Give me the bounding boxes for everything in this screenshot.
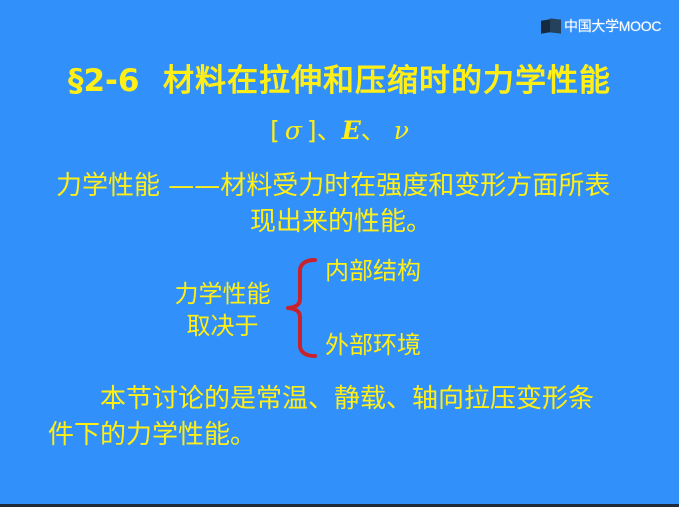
scope-line-2: 件下的力学性能。	[48, 417, 638, 453]
symbol-separator-1: 、	[317, 116, 342, 145]
dependency-left-label: 力学性能 取决于	[160, 278, 285, 342]
book-pages-icon	[541, 19, 561, 34]
symbol-separator-2: 、	[361, 116, 386, 145]
definition-line-1: 力学性能 ——材料受力时在强度和变形方面所表	[56, 168, 626, 204]
close-bracket: ]	[307, 116, 317, 145]
dependency-item-internal-structure: 内部结构	[325, 255, 421, 287]
dependency-left-label-line-2: 取决于	[160, 310, 285, 342]
poisson-ratio-symbol: ν	[394, 116, 409, 145]
elastic-modulus-symbol: E	[342, 116, 361, 145]
scope-paragraph: 本节讨论的是常温、静载、轴向拉压变形条 件下的力学性能。	[48, 381, 638, 453]
definition-paragraph: 力学性能 ——材料受力时在强度和变形方面所表 现出来的性能。	[56, 168, 626, 240]
mooc-logo-text: 中国大学MOOC	[564, 19, 661, 34]
sigma-symbol: σ	[285, 116, 302, 145]
scope-line-1-wrapper: 本节讨论的是常温、静载、轴向拉压变形条	[48, 381, 638, 417]
dependency-item-external-environment: 外部环境	[325, 329, 421, 361]
scope-line-1: 本节讨论的是常温、静载、轴向拉压变形条	[100, 384, 594, 414]
slide-title-section-number: §2-6	[68, 63, 140, 99]
definition-line-2: 现出来的性能。	[56, 204, 626, 240]
dependency-left-label-line-1: 力学性能	[160, 278, 285, 310]
curly-brace-icon	[282, 255, 322, 360]
slide-title: §2-6 材料在拉伸和压缩时的力学性能	[0, 55, 679, 100]
presentation-slide: 中国大学MOOC §2-6 材料在拉伸和压缩时的力学性能 [ σ ]、E、 ν …	[0, 0, 679, 507]
symbols-line: [ σ ]、E、 ν	[0, 111, 679, 147]
mooc-logo: 中国大学MOOC	[541, 16, 661, 36]
open-bracket: [	[270, 116, 280, 145]
slide-title-heading: 材料在拉伸和压缩时的力学性能	[163, 63, 611, 99]
dependency-diagram: 力学性能 取决于 内部结构 外部环境	[160, 255, 500, 370]
